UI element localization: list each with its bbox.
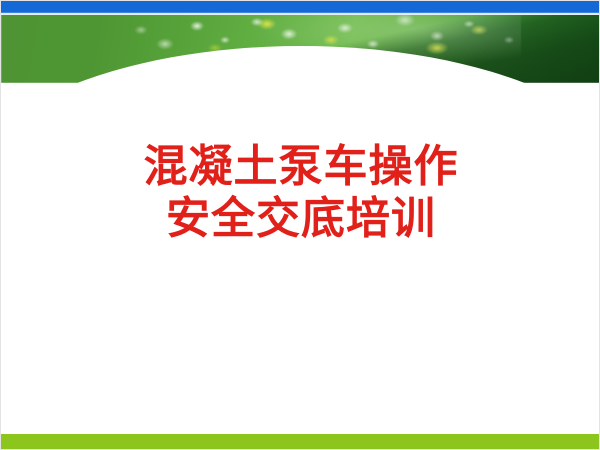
top-blue-band: [1, 1, 600, 12]
slide-title: 混凝土泵车操作 安全交底培训: [1, 141, 600, 245]
top-hairline-divider: [1, 13, 600, 15]
presentation-slide: 混凝土泵车操作 安全交底培训: [0, 0, 600, 450]
title-line-1: 混凝土泵车操作: [1, 141, 600, 193]
title-line-2: 安全交底培训: [1, 193, 600, 245]
bottom-green-band: [1, 434, 600, 450]
